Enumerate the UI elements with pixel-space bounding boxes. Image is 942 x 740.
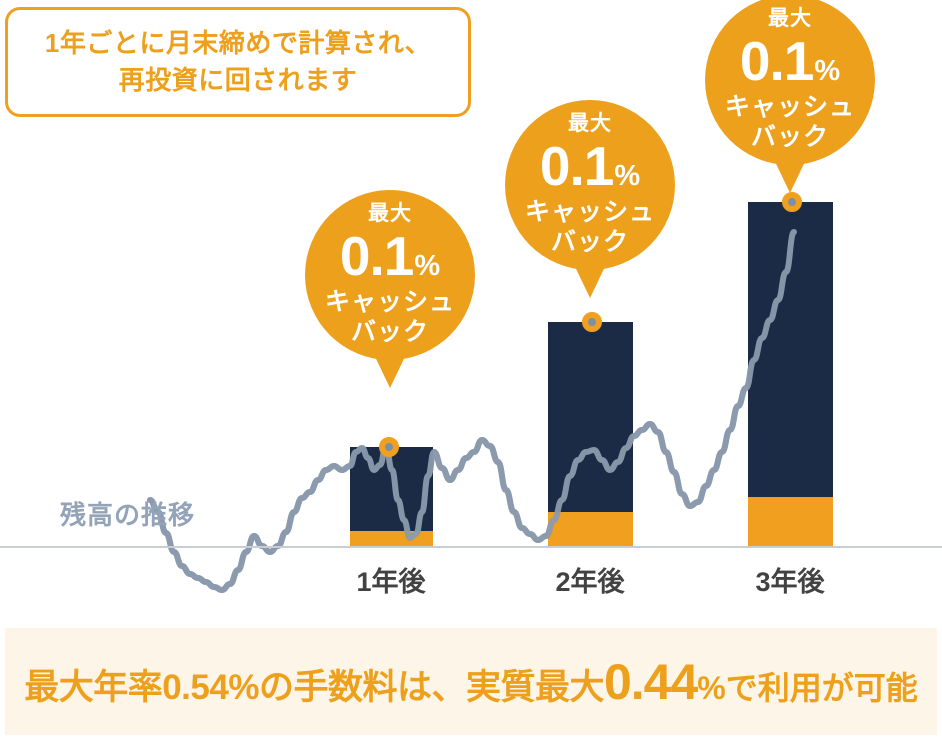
bubble-cashback-line1: キャッシュ xyxy=(525,198,655,228)
bubble-value-row: 0.1% xyxy=(340,229,440,284)
banner-text: 最大年率0.54%の手数料は、実質最大0.44%で利用が可能 xyxy=(24,653,918,711)
bubble-top-label: 最大 xyxy=(768,8,812,29)
banner-highlight-value: 0.44 xyxy=(604,653,697,711)
bubble-top-label: 最大 xyxy=(568,113,612,134)
infographic-root: 残高の推移 1年後 2年後 3年後 最大 0.1% キャッシュ バック 最大 0… xyxy=(0,0,942,740)
bubble-circle: 最大 0.1% キャッシュ バック xyxy=(505,100,675,270)
bubble-unit: % xyxy=(814,57,840,86)
bubble-value-row: 0.1% xyxy=(540,139,640,194)
bubble-tail xyxy=(568,252,612,298)
banner-part-3: %で利用が可能 xyxy=(697,663,917,709)
callout-line-2: 再投資に回されます xyxy=(119,62,358,99)
bubble-value-row: 0.1% xyxy=(740,34,840,89)
callout-box: 1年ごとに月末締めで計算され、 再投資に回されます xyxy=(5,7,471,117)
bubble-cashback-line1: キャッシュ xyxy=(725,93,855,123)
data-point-marker-2 xyxy=(582,312,602,332)
bubble-circle: 最大 0.1% キャッシュ バック xyxy=(305,190,475,360)
bubble-value: 0.1 xyxy=(540,139,613,194)
cashback-bubble-3: 最大 0.1% キャッシュ バック xyxy=(705,0,875,200)
bubble-circle: 最大 0.1% キャッシュ バック xyxy=(705,0,875,165)
bubble-tail xyxy=(368,342,412,388)
cashback-bubble-1: 最大 0.1% キャッシュ バック xyxy=(305,190,475,395)
bubble-value: 0.1 xyxy=(740,34,813,89)
bubble-tail xyxy=(768,147,812,193)
bottom-banner: 最大年率0.54%の手数料は、実質最大0.44%で利用が可能 xyxy=(5,628,937,735)
callout-line-1: 1年ごとに月末締めで計算され、 xyxy=(45,25,431,62)
data-point-marker-1 xyxy=(379,437,399,457)
banner-part-1: 最大年率0.54%の手数料は、実質最大 xyxy=(24,659,604,710)
cashback-bubble-2: 最大 0.1% キャッシュ バック xyxy=(505,100,675,305)
bubble-top-label: 最大 xyxy=(368,203,412,224)
bubble-unit: % xyxy=(414,252,440,281)
bubble-unit: % xyxy=(614,162,640,191)
bubble-cashback-line1: キャッシュ xyxy=(325,288,455,318)
bubble-value: 0.1 xyxy=(340,229,413,284)
